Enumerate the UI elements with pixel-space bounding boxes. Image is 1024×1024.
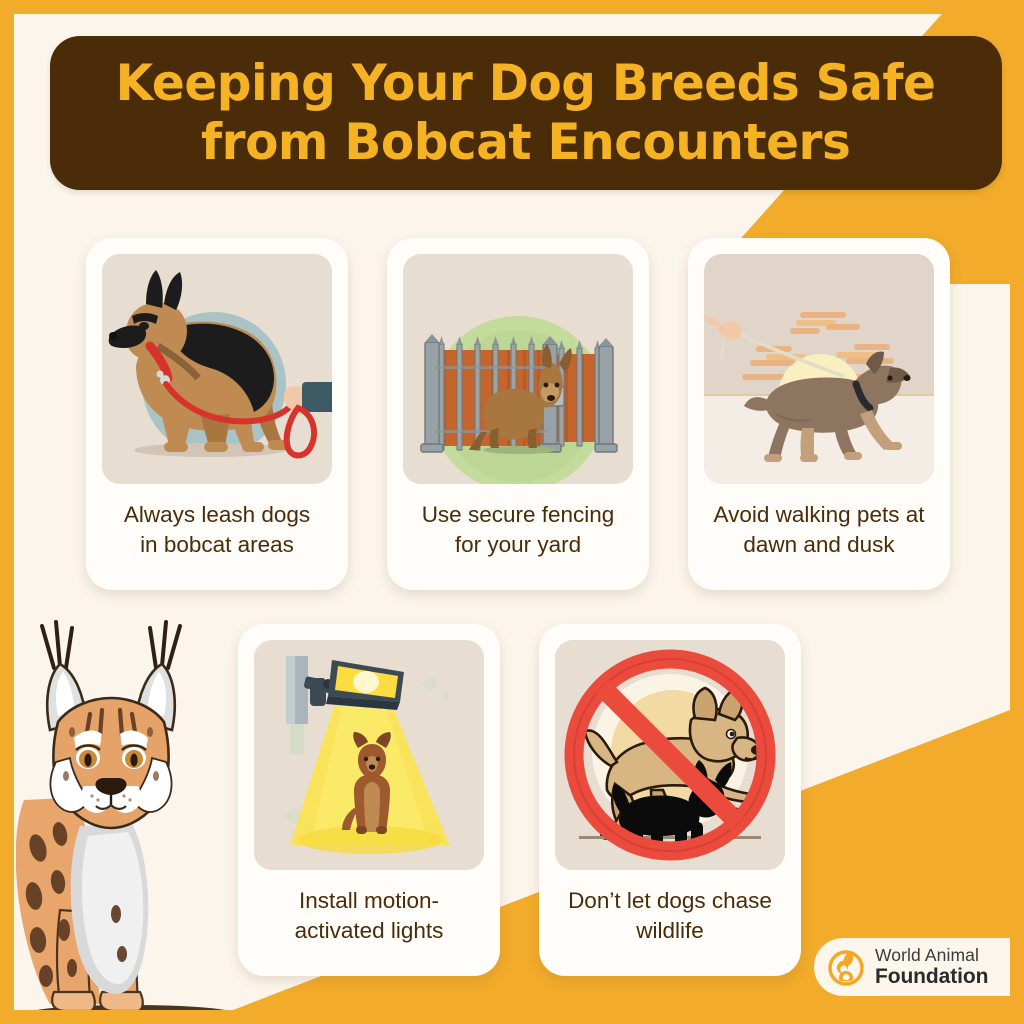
poster-title-banner: Keeping Your Dog Breeds Safe from Bobcat… bbox=[50, 36, 1002, 190]
caption-line-2: in bobcat areas bbox=[140, 532, 294, 557]
caption-line-1: Don’t let dogs chase bbox=[568, 888, 772, 913]
caption-line-2: wildlife bbox=[636, 918, 704, 943]
world-animal-foundation-logo[interactable]: World Animal Foundation bbox=[814, 938, 1010, 996]
tip-card-dawn-dusk[interactable]: Avoid walking pets at dawn and dusk bbox=[688, 238, 950, 590]
caption-line-1: Install motion- bbox=[299, 888, 439, 913]
caption-line-1: Use secure fencing bbox=[422, 502, 615, 527]
card-caption: Use secure fencing for your yard bbox=[408, 484, 629, 560]
card-caption: Avoid walking pets at dawn and dusk bbox=[700, 484, 939, 560]
fence-illustration bbox=[403, 254, 633, 484]
title-line-1: Keeping Your Dog Breeds Safe bbox=[116, 54, 936, 113]
floodlight-illustration bbox=[254, 640, 484, 870]
tip-card-motion-lights[interactable]: Install motion- activated lights bbox=[238, 624, 500, 976]
bobcat-mascot bbox=[16, 610, 232, 1010]
logo-line-1: World Animal bbox=[875, 947, 988, 965]
tip-card-fencing[interactable]: Use secure fencing for your yard bbox=[387, 238, 649, 590]
tip-card-leash[interactable]: Always leash dogs in bobcat areas bbox=[86, 238, 348, 590]
foundation-circle-icon bbox=[826, 947, 866, 987]
leash-illustration bbox=[102, 254, 332, 484]
logo-wordmark: World Animal Foundation bbox=[875, 947, 988, 988]
infographic-poster: Keeping Your Dog Breeds Safe from Bobcat… bbox=[0, 0, 1024, 1024]
tip-card-no-chasing[interactable]: Don’t let dogs chase wildlife bbox=[539, 624, 801, 976]
logo-line-2: Foundation bbox=[875, 966, 988, 987]
caption-line-1: Avoid walking pets at bbox=[714, 502, 925, 527]
caption-line-2: dawn and dusk bbox=[743, 532, 894, 557]
poster-background: Keeping Your Dog Breeds Safe from Bobcat… bbox=[14, 14, 1010, 1010]
sunset-walk-illustration bbox=[704, 254, 934, 484]
caption-line-2: activated lights bbox=[295, 918, 444, 943]
no-chasing-illustration bbox=[555, 640, 785, 870]
card-caption: Install motion- activated lights bbox=[281, 870, 458, 946]
card-caption: Don’t let dogs chase wildlife bbox=[554, 870, 786, 946]
card-caption: Always leash dogs in bobcat areas bbox=[110, 484, 324, 560]
caption-line-1: Always leash dogs bbox=[124, 502, 310, 527]
caption-line-2: for your yard bbox=[455, 532, 581, 557]
title-line-2: from Bobcat Encounters bbox=[201, 113, 850, 172]
